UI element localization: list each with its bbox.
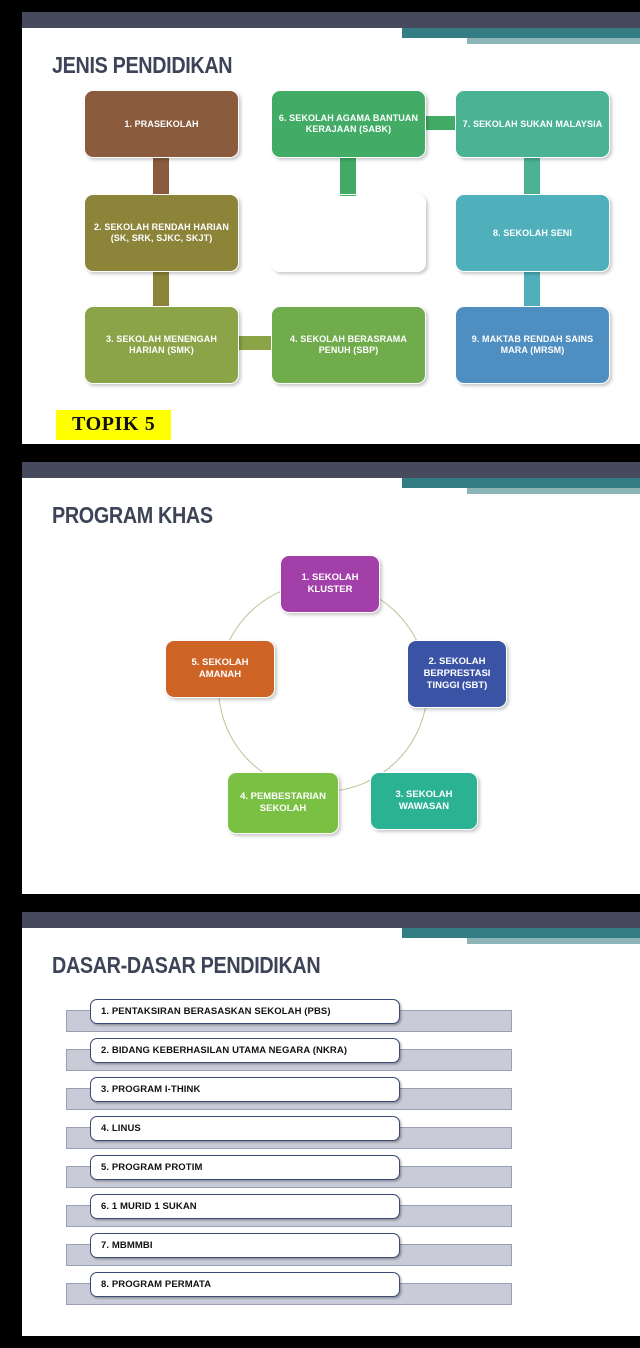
flow-box[interactable]: 2. SEKOLAH RENDAH HARIAN (SK, SRK, SJKC,… [84, 194, 239, 272]
list-item[interactable]: 1. PENTAKSIRAN BERASASKAN SEKOLAH (PBS) [22, 998, 640, 1036]
flow-connector [524, 270, 540, 308]
list-item[interactable]: 2. BIDANG KEBERHASILAN UTAMA NEGARA (NKR… [22, 1037, 640, 1075]
cycle-node-label: 1. SEKOLAH KLUSTER [286, 572, 374, 596]
list-item-chip[interactable]: 5. PROGRAM PROTIM [90, 1155, 400, 1180]
flow-box[interactable]: 9. MAKTAB RENDAH SAINS MARA (MRSM) [455, 306, 610, 384]
flow-box[interactable]: 1. PRASEKOLAH [84, 90, 239, 158]
cycle-diagram-program-khas: 1. SEKOLAH KLUSTER2. SEKOLAH BERPRESTASI… [22, 462, 640, 894]
list-item-chip[interactable]: 6. 1 MURID 1 SUKAN [90, 1194, 400, 1219]
list-item-label: 1. PENTAKSIRAN BERASASKAN SEKOLAH (PBS) [101, 1006, 331, 1017]
slide-deck: JENIS PENDIDIKAN 1. PRASEKOLAH2. SEKOLAH… [0, 0, 640, 1348]
list-item-label: 4. LINUS [101, 1123, 141, 1134]
flow-box[interactable]: 5. SEKOLAH MENENGAH KEBANGSAAN AGAMA (SM… [271, 194, 426, 272]
flow-box[interactable]: 6. SEKOLAH AGAMA BANTUAN KERAJAAN (SABK) [271, 90, 426, 158]
list-item-chip[interactable]: 1. PENTAKSIRAN BERASASKAN SEKOLAH (PBS) [90, 999, 400, 1024]
flow-connector [153, 270, 169, 308]
list-item-label: 3. PROGRAM I-THINK [101, 1084, 200, 1095]
flow-box[interactable]: 8. SEKOLAH SENI [455, 194, 610, 272]
flow-connector [237, 336, 275, 350]
flow-connector [524, 156, 540, 196]
list-item-chip[interactable]: 2. BIDANG KEBERHASILAN UTAMA NEGARA (NKR… [90, 1038, 400, 1063]
flow-connector [153, 156, 169, 196]
cycle-node-label: 5. SEKOLAH AMANAH [171, 657, 269, 681]
flow-box-label: 7. SEKOLAH SUKAN MALAYSIA [463, 119, 603, 130]
list-item[interactable]: 8. PROGRAM PERMATA [22, 1271, 640, 1309]
topik-badge: TOPIK 5 [56, 410, 171, 440]
cycle-node[interactable]: 3. SEKOLAH WAWASAN [370, 772, 478, 830]
flow-box[interactable]: 4. SEKOLAH BERASRAMA PENUH (SBP) [271, 306, 426, 384]
flow-box[interactable]: 7. SEKOLAH SUKAN MALAYSIA [455, 90, 610, 158]
flow-box-label: 3. SEKOLAH MENENGAH HARIAN (SMK) [90, 334, 233, 356]
list-item-label: 6. 1 MURID 1 SUKAN [101, 1201, 197, 1212]
slide-jenis-pendidikan: JENIS PENDIDIKAN 1. PRASEKOLAH2. SEKOLAH… [22, 12, 640, 444]
list-item-chip[interactable]: 4. LINUS [90, 1116, 400, 1141]
flow-box-label: 5. SEKOLAH MENENGAH KEBANGSAAN AGAMA (SM… [277, 222, 420, 244]
flow-box-label: 1. PRASEKOLAH [124, 119, 198, 130]
list-item[interactable]: 6. 1 MURID 1 SUKAN [22, 1193, 640, 1231]
cycle-node-label: 4. PEMBESTARIAN SEKOLAH [233, 791, 333, 815]
list-item-label: 8. PROGRAM PERMATA [101, 1279, 211, 1290]
list-item-label: 2. BIDANG KEBERHASILAN UTAMA NEGARA (NKR… [101, 1045, 347, 1056]
flow-box-label: 9. MAKTAB RENDAH SAINS MARA (MRSM) [461, 334, 604, 356]
flow-box-label: 8. SEKOLAH SENI [493, 228, 572, 239]
list-item[interactable]: 4. LINUS [22, 1115, 640, 1153]
list-item-chip[interactable]: 8. PROGRAM PERMATA [90, 1272, 400, 1297]
flow-connector [424, 116, 458, 130]
list-item-chip[interactable]: 3. PROGRAM I-THINK [90, 1077, 400, 1102]
cycle-node-label: 2. SEKOLAH BERPRESTASI TINGGI (SBT) [413, 656, 501, 692]
slide-program-khas: PROGRAM KHAS 1. SEKOLAH KLUSTER2. SEKOLA… [22, 462, 640, 894]
list-item[interactable]: 3. PROGRAM I-THINK [22, 1076, 640, 1114]
dasar-list: 1. PENTAKSIRAN BERASASKAN SEKOLAH (PBS)2… [22, 912, 640, 1336]
flow-connector [340, 270, 356, 308]
cycle-node[interactable]: 2. SEKOLAH BERPRESTASI TINGGI (SBT) [407, 640, 507, 708]
cycle-node[interactable]: 5. SEKOLAH AMANAH [165, 640, 275, 698]
list-item[interactable]: 7. MBMMBI [22, 1232, 640, 1270]
list-item-label: 5. PROGRAM PROTIM [101, 1162, 202, 1173]
slide-dasar-dasar-pendidikan: DASAR-DASAR PENDIDIKAN 1. PENTAKSIRAN BE… [22, 912, 640, 1336]
flow-box-label: 4. SEKOLAH BERASRAMA PENUH (SBP) [277, 334, 420, 356]
flow-box-label: 6. SEKOLAH AGAMA BANTUAN KERAJAAN (SABK) [277, 113, 420, 135]
flow-box-label: 2. SEKOLAH RENDAH HARIAN (SK, SRK, SJKC,… [90, 222, 233, 244]
cycle-node[interactable]: 1. SEKOLAH KLUSTER [280, 555, 380, 613]
list-item-label: 7. MBMMBI [101, 1240, 153, 1251]
flow-box[interactable]: 3. SEKOLAH MENENGAH HARIAN (SMK) [84, 306, 239, 384]
flow-connector [340, 156, 356, 196]
cycle-node[interactable]: 4. PEMBESTARIAN SEKOLAH [227, 772, 339, 834]
list-item-chip[interactable]: 7. MBMMBI [90, 1233, 400, 1258]
flowchart-jenis-pendidikan: 1. PRASEKOLAH2. SEKOLAH RENDAH HARIAN (S… [22, 12, 640, 444]
list-item[interactable]: 5. PROGRAM PROTIM [22, 1154, 640, 1192]
cycle-node-label: 3. SEKOLAH WAWASAN [376, 789, 472, 813]
